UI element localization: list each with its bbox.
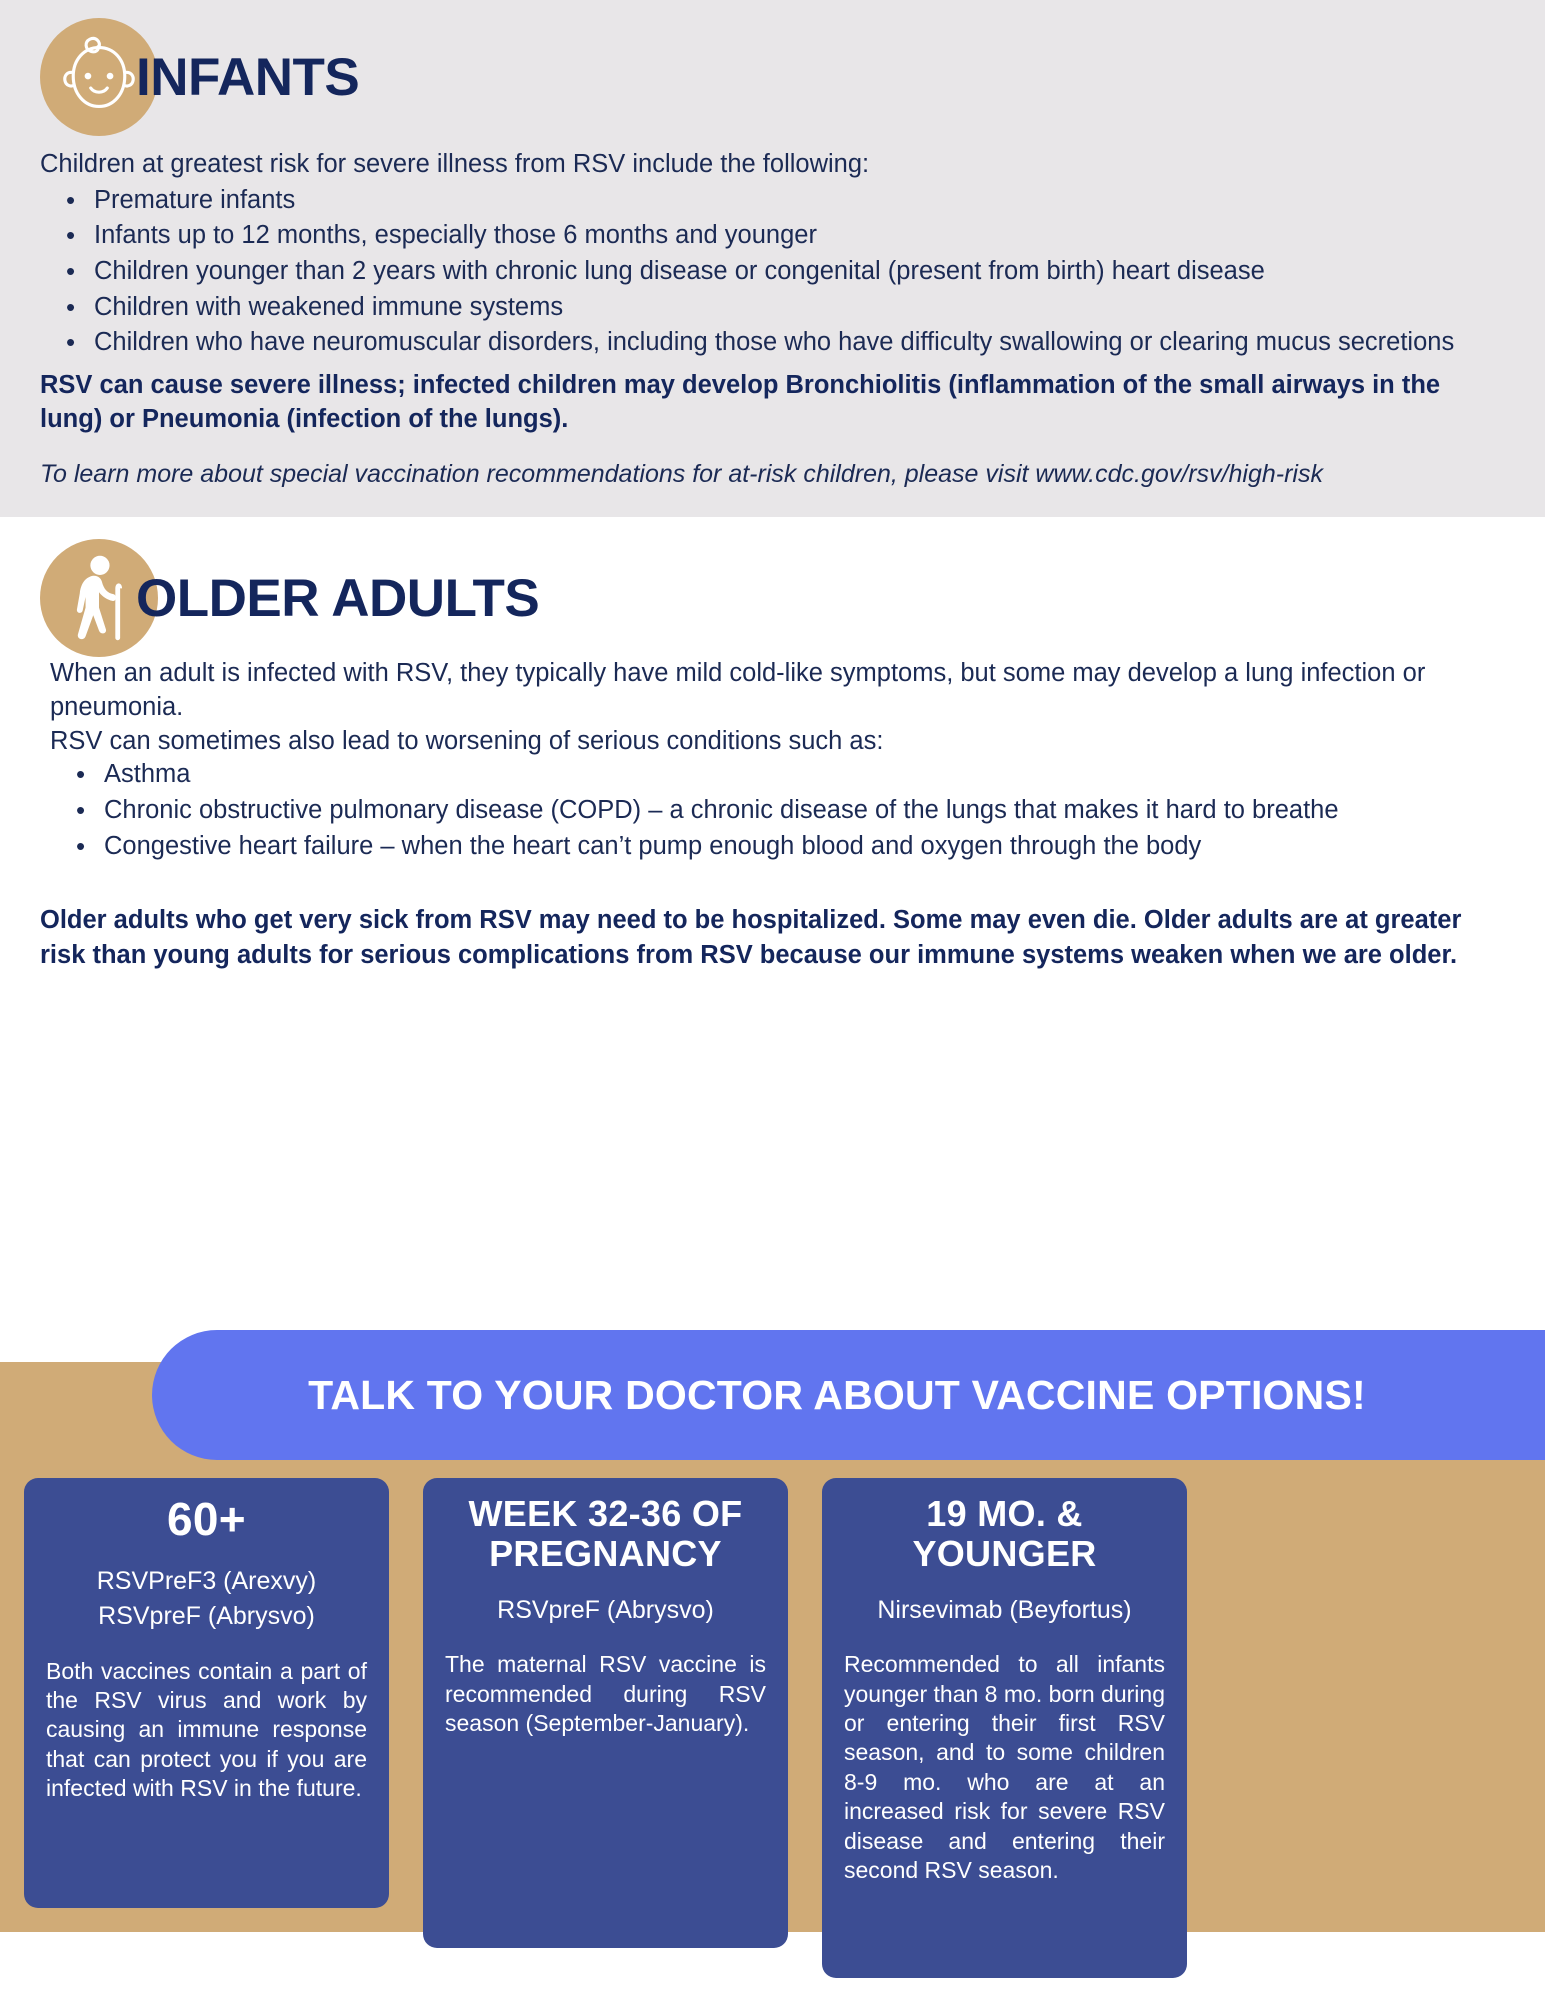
card-title: WEEK 32-36 OF PREGNANCY	[445, 1494, 766, 1575]
infants-italic-note: To learn more about special vaccination …	[40, 458, 1505, 491]
list-item: Chronic obstructive pulmonary disease (C…	[102, 794, 1505, 828]
list-item: Children younger than 2 years with chron…	[92, 255, 1505, 289]
list-item: Infants up to 12 months, especially thos…	[92, 219, 1505, 253]
card-description: Recommended to all infants younger than …	[844, 1650, 1165, 1886]
older-adults-section: OLDER ADULTS When an adult is infected w…	[0, 517, 1545, 983]
list-item: Children who have neuromuscular disorder…	[92, 326, 1505, 360]
card-vaccine-names: Nirsevimab (Beyfortus)	[844, 1593, 1165, 1629]
older-adults-paragraph-1: When an adult is infected with RSV, they…	[50, 657, 1505, 724]
vaccine-cards-row: 60+ RSVPreF3 (Arexvy)RSVpreF (Abrysvo) B…	[24, 1478, 1524, 1978]
vaccine-card-60-plus: 60+ RSVPreF3 (Arexvy)RSVpreF (Abrysvo) B…	[24, 1478, 389, 1908]
card-description: Both vaccines contain a part of the RSV …	[46, 1657, 367, 1804]
list-item: Congestive heart failure – when the hear…	[102, 830, 1505, 864]
older-adults-header: OLDER ADULTS	[40, 539, 1505, 657]
card-title: 19 MO. & YOUNGER	[844, 1494, 1165, 1575]
list-item: Premature infants	[92, 184, 1505, 218]
infants-title: INFANTS	[136, 51, 359, 104]
cta-banner: TALK TO YOUR DOCTOR ABOUT VACCINE OPTION…	[152, 1330, 1545, 1460]
cta-label: TALK TO YOUR DOCTOR ABOUT VACCINE OPTION…	[308, 1372, 1366, 1419]
older-adults-paragraph-2: RSV can sometimes also lead to worsening…	[50, 725, 1505, 759]
card-vaccine-names: RSVPreF3 (Arexvy)RSVpreF (Abrysvo)	[46, 1564, 367, 1635]
older-adults-bold-note: Older adults who get very sick from RSV …	[40, 903, 1505, 973]
list-item: Asthma	[102, 758, 1505, 792]
infants-bullet-list: Premature infants Infants up to 12 month…	[40, 184, 1505, 360]
card-description: The maternal RSV vaccine is recommended …	[445, 1650, 766, 1738]
older-adults-bullet-list: Asthma Chronic obstructive pulmonary dis…	[50, 758, 1505, 863]
card-vaccine-names: RSVpreF (Abrysvo)	[445, 1593, 766, 1629]
vaccine-card-pregnancy: WEEK 32-36 OF PREGNANCY RSVpreF (Abrysvo…	[423, 1478, 788, 1948]
infants-section: INFANTS Children at greatest risk for se…	[0, 0, 1545, 517]
list-item: Children with weakened immune systems	[92, 291, 1505, 325]
card-title: 60+	[46, 1494, 367, 1546]
infants-header: INFANTS	[40, 18, 1505, 136]
vaccine-card-19-months: 19 MO. & YOUNGER Nirsevimab (Beyfortus) …	[822, 1478, 1187, 1978]
infants-bold-note: RSV can cause severe illness; infected c…	[40, 369, 1505, 436]
infants-intro: Children at greatest risk for severe ill…	[40, 148, 1505, 182]
vaccine-options-zone: TALK TO YOUR DOCTOR ABOUT VACCINE OPTION…	[0, 1362, 1545, 2000]
older-adults-body: When an adult is infected with RSV, they…	[40, 657, 1505, 863]
older-adults-title: OLDER ADULTS	[136, 572, 539, 625]
